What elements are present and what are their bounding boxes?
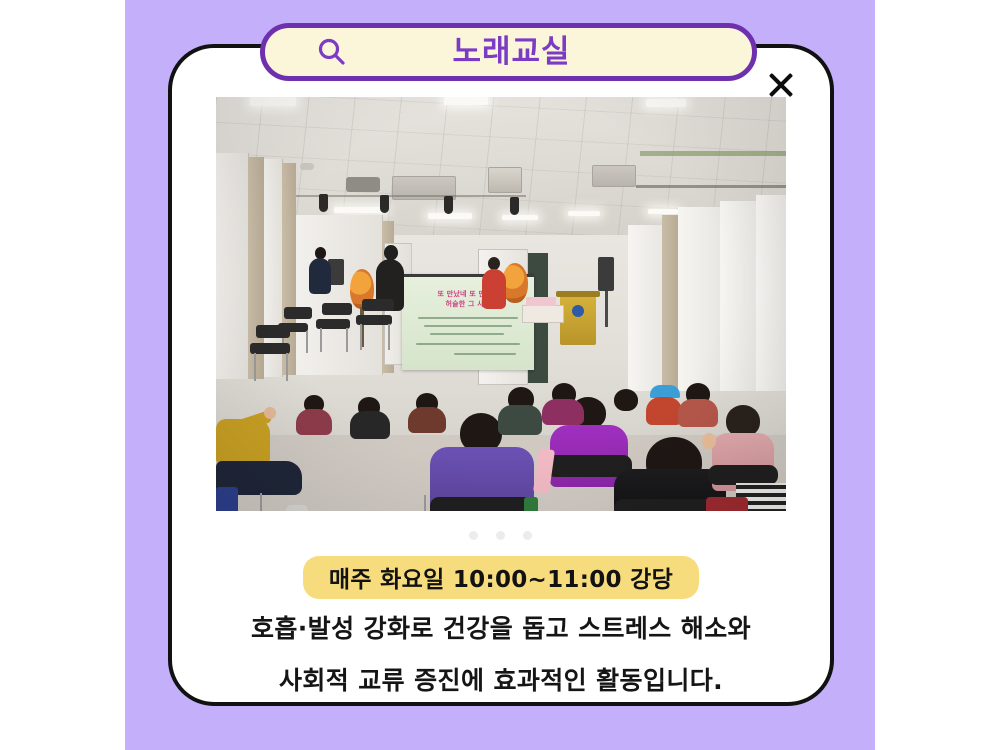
photo-vignette [216,97,786,511]
close-icon[interactable] [764,68,798,102]
schedule-highlight: 매주 화요일 10:00~11:00 강당 [303,556,699,599]
schedule-text: 매주 화요일 10:00~11:00 강당 [329,567,673,593]
program-description: 호흡·발성 강화로 건강을 돕고 스트레스 해소와 사회적 교류 증진에 효과적… [190,603,812,707]
carousel-dot-1[interactable] [469,531,478,540]
title-search-pill[interactable]: 노래교실 [260,23,757,81]
screenshot-root: 또 만났네 또 만나서 허슬한 그 사람 [0,0,1000,750]
carousel-dot-2[interactable] [496,531,505,540]
program-photo[interactable]: 또 만났네 또 만나서 허슬한 그 사람 [216,97,786,511]
schedule-row: 매주 화요일 10:00~11:00 강당 [168,558,834,596]
search-icon[interactable] [317,37,347,67]
carousel-dot-3[interactable] [523,531,532,540]
carousel-dots [0,531,1000,540]
description-line-2: 사회적 교류 증진에 효과적인 활동입니다. [190,655,812,707]
description-line-1: 호흡·발성 강화로 건강을 돕고 스트레스 해소와 [190,603,812,655]
